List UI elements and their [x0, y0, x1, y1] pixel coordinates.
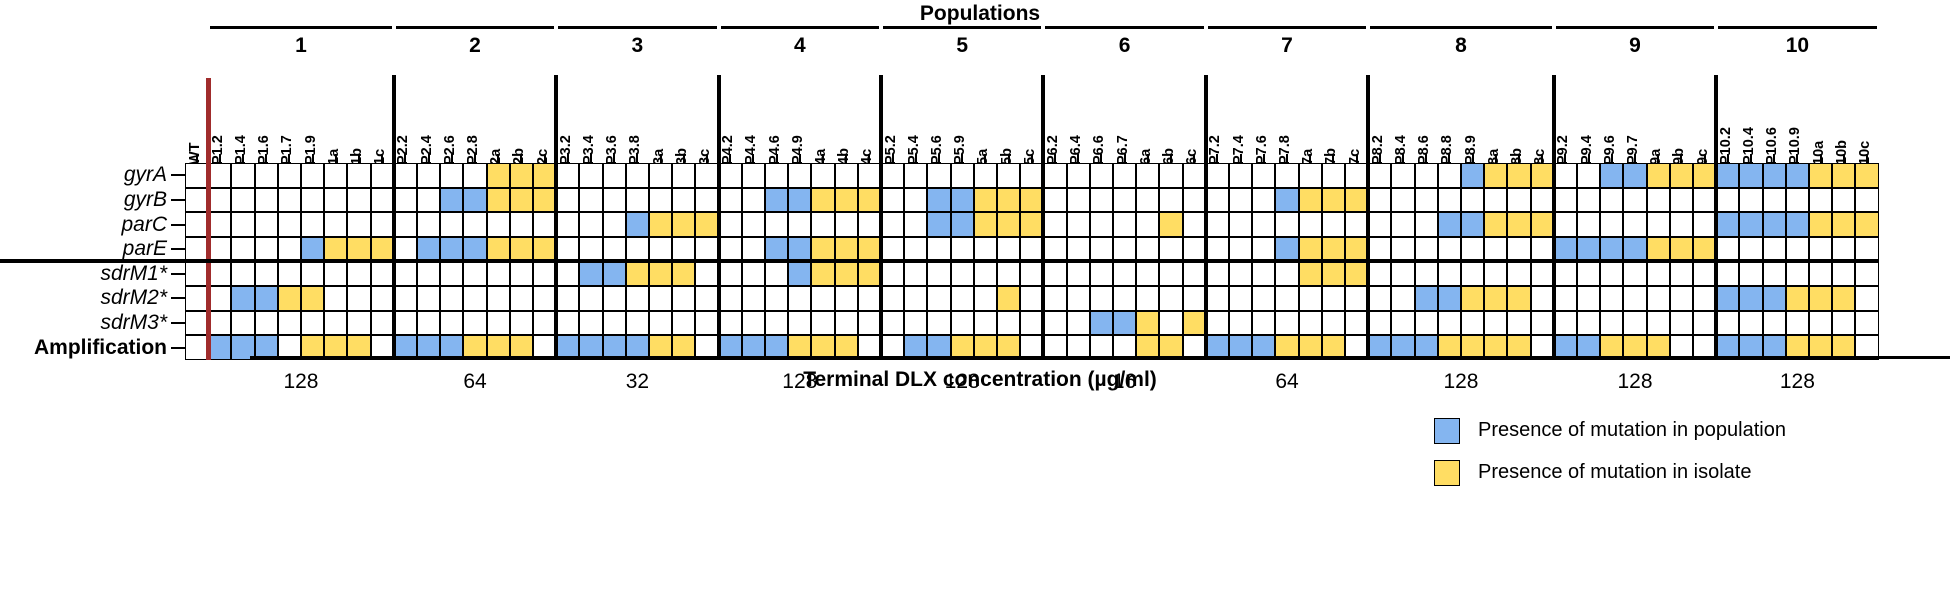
column-tick	[451, 154, 453, 163]
heatmap-cell	[394, 261, 417, 286]
heatmap-cell	[1461, 261, 1484, 286]
heatmap-cell	[672, 163, 695, 188]
heatmap-cell	[1043, 311, 1066, 336]
heatmap-cell	[1229, 212, 1252, 237]
heatmap-cell	[1507, 261, 1530, 286]
heatmap-cell	[1067, 212, 1090, 237]
gene-group-divider	[0, 259, 1879, 263]
heatmap-cell	[1299, 311, 1322, 336]
heatmap-cell	[394, 237, 417, 262]
heatmap-cell	[997, 237, 1020, 262]
heatmap-cell	[904, 311, 927, 336]
heatmap-cell	[1113, 212, 1136, 237]
heatmap-cell	[974, 261, 997, 286]
heatmap-cell	[1507, 188, 1530, 213]
heatmap-cell	[1159, 286, 1182, 311]
heatmap-cell	[1647, 311, 1670, 336]
heatmap-cell	[1043, 163, 1066, 188]
heatmap-cell	[951, 237, 974, 262]
heatmap-cell	[927, 237, 950, 262]
heatmap-cell	[927, 261, 950, 286]
heatmap-cell	[765, 311, 788, 336]
heatmap-cell	[440, 163, 463, 188]
heatmap-cell	[1786, 237, 1809, 262]
heatmap-cell	[1229, 188, 1252, 213]
heatmap-cell	[672, 286, 695, 311]
heatmap-cell	[858, 237, 881, 262]
heatmap-cell	[1183, 163, 1206, 188]
heatmap-cell	[997, 286, 1020, 311]
population-rule-7	[1208, 26, 1366, 29]
bottom-axis-rule	[250, 356, 1950, 359]
heatmap-cell	[1345, 212, 1368, 237]
column-tick	[776, 154, 778, 163]
heatmap-cell	[208, 261, 231, 286]
heatmap-cell	[510, 212, 533, 237]
heatmap-cell	[487, 286, 510, 311]
heatmap-cell	[347, 261, 370, 286]
heatmap-cell	[1090, 286, 1113, 311]
heatmap-cell	[1299, 212, 1322, 237]
heatmap-cell	[1623, 311, 1646, 336]
heatmap-cell	[695, 286, 718, 311]
heatmap-cell	[1739, 163, 1762, 188]
heatmap-cell	[811, 286, 834, 311]
heatmap-cell	[1809, 261, 1832, 286]
heatmap-cell	[510, 188, 533, 213]
heatmap-cell	[1159, 237, 1182, 262]
heatmap-cell	[1739, 188, 1762, 213]
heatmap-cell	[1206, 237, 1229, 262]
column-label-P3-4: P3.4	[581, 135, 597, 165]
heatmap-cell	[835, 237, 858, 262]
heatmap-cell	[1832, 188, 1855, 213]
heatmap-cell	[394, 163, 417, 188]
heatmap-cell	[811, 237, 834, 262]
legend-swatch-population	[1434, 418, 1460, 444]
heatmap-cell	[1252, 311, 1275, 336]
heatmap-cell	[1345, 188, 1368, 213]
heatmap-cell	[1020, 188, 1043, 213]
heatmap-cell	[463, 212, 486, 237]
heatmap-cell	[927, 163, 950, 188]
heatmap-cell	[1647, 212, 1670, 237]
heatmap-cell	[255, 261, 278, 286]
population-number-3: 3	[556, 34, 718, 58]
column-label-P9-2: P9.2	[1555, 135, 1571, 165]
heatmap-cell	[1322, 188, 1345, 213]
heatmap-cell	[1809, 212, 1832, 237]
heatmap-cell	[208, 311, 231, 336]
population-rule-4	[721, 26, 879, 29]
heatmap-cell	[904, 188, 927, 213]
heatmap-cell	[1299, 237, 1322, 262]
column-tick	[567, 154, 569, 163]
column-tick	[1448, 154, 1450, 163]
column-tick	[636, 154, 638, 163]
heatmap-cell	[510, 163, 533, 188]
heatmap-cell	[1531, 212, 1554, 237]
heatmap-cell	[417, 237, 440, 262]
heatmap-cell	[835, 311, 858, 336]
heatmap-cell	[533, 163, 556, 188]
heatmap-cell	[1484, 286, 1507, 311]
heatmap-cell	[1786, 188, 1809, 213]
column-label-P8-2: P8.2	[1370, 135, 1386, 165]
population-number-5: 5	[881, 34, 1043, 58]
heatmap-cell	[927, 188, 950, 213]
column-tick	[219, 154, 221, 163]
heatmap-cell	[1763, 311, 1786, 336]
heatmap-cell	[1855, 286, 1878, 311]
heatmap-cell	[719, 163, 742, 188]
heatmap-cell	[904, 163, 927, 188]
column-label-P1-6: P1.6	[256, 135, 272, 165]
column-tick	[1054, 154, 1056, 163]
heatmap-cell	[603, 311, 626, 336]
heatmap-cell	[1252, 188, 1275, 213]
column-tick	[265, 154, 267, 163]
heatmap-cell	[1855, 261, 1878, 286]
heatmap-cell	[347, 311, 370, 336]
heatmap-cell	[1577, 237, 1600, 262]
heatmap-cell	[904, 286, 927, 311]
heatmap-cell	[1438, 261, 1461, 286]
heatmap-cell	[1531, 311, 1554, 336]
heatmap-cell	[417, 311, 440, 336]
heatmap-cell	[417, 212, 440, 237]
heatmap-cell	[463, 261, 486, 286]
population-rule-1	[210, 26, 392, 29]
heatmap-cell	[1623, 163, 1646, 188]
heatmap-cell	[1229, 261, 1252, 286]
heatmap-cell	[1368, 286, 1391, 311]
column-tick	[1796, 154, 1798, 163]
column-tick	[428, 154, 430, 163]
heatmap-cell	[487, 261, 510, 286]
heatmap-cell	[533, 286, 556, 311]
heatmap-cell	[1136, 188, 1159, 213]
population-divider-3	[554, 75, 558, 360]
heatmap-cell	[1623, 188, 1646, 213]
heatmap-cell	[1763, 163, 1786, 188]
heatmap-cell	[208, 335, 231, 360]
heatmap-cell	[1531, 188, 1554, 213]
population-number-4: 4	[719, 34, 881, 58]
heatmap-cell	[765, 261, 788, 286]
heatmap-cell	[1786, 163, 1809, 188]
heatmap-cell	[1647, 261, 1670, 286]
heatmap-cell	[510, 261, 533, 286]
heatmap-cell	[371, 163, 394, 188]
heatmap-cell	[997, 188, 1020, 213]
heatmap-cell	[1647, 237, 1670, 262]
heatmap-cell	[347, 212, 370, 237]
heatmap-cell	[1275, 286, 1298, 311]
heatmap-cell	[788, 311, 811, 336]
column-label-P10-9: P10.9	[1787, 127, 1803, 165]
heatmap-cell	[324, 237, 347, 262]
column-label-P2-8: P2.8	[465, 135, 481, 165]
heatmap-cell	[881, 188, 904, 213]
heatmap-cell	[1670, 261, 1693, 286]
heatmap-cell	[1391, 261, 1414, 286]
heatmap-cell	[904, 237, 927, 262]
heatmap-cell	[835, 188, 858, 213]
column-label-10b: 10b	[1834, 140, 1850, 165]
heatmap-cell	[904, 212, 927, 237]
heatmap-cell	[371, 286, 394, 311]
heatmap-cell	[347, 237, 370, 262]
heatmap-cell	[1067, 261, 1090, 286]
heatmap-cell	[371, 311, 394, 336]
heatmap-cell	[579, 286, 602, 311]
heatmap-cell	[1531, 286, 1554, 311]
heatmap-cell	[1716, 163, 1739, 188]
heatmap-cell	[649, 286, 672, 311]
heatmap-cell	[788, 237, 811, 262]
heatmap-cell	[858, 286, 881, 311]
column-tick	[1588, 154, 1590, 163]
column-label-P7-8: P7.8	[1277, 135, 1293, 165]
heatmap-cell	[1809, 311, 1832, 336]
heatmap-cell	[1763, 188, 1786, 213]
column-tick	[729, 154, 731, 163]
heatmap-cell	[1670, 212, 1693, 237]
column-tick	[1286, 154, 1288, 163]
column-label-P7-6: P7.6	[1254, 135, 1270, 165]
heatmap-cell	[1461, 311, 1484, 336]
heatmap-cell	[742, 237, 765, 262]
column-tick	[1008, 154, 1010, 163]
column-tick	[1495, 154, 1497, 163]
heatmap-cell	[440, 212, 463, 237]
heatmap-cell	[208, 237, 231, 262]
heatmap-cell	[927, 212, 950, 237]
heatmap-cell	[1670, 286, 1693, 311]
heatmap-cell	[742, 311, 765, 336]
heatmap-cell	[881, 286, 904, 311]
heatmap-cell	[1206, 188, 1229, 213]
column-tick	[915, 154, 917, 163]
column-tick	[335, 154, 337, 163]
heatmap-cell	[951, 212, 974, 237]
column-tick	[288, 154, 290, 163]
row-tick	[171, 297, 185, 299]
heatmap-cell	[347, 163, 370, 188]
heatmap-cell	[951, 261, 974, 286]
column-tick	[1680, 154, 1682, 163]
heatmap-cell	[1600, 163, 1623, 188]
heatmap-cell	[1043, 237, 1066, 262]
heatmap-cell	[1391, 311, 1414, 336]
heatmap-cell	[881, 311, 904, 336]
heatmap-cell	[719, 286, 742, 311]
heatmap-cell	[1763, 212, 1786, 237]
heatmap-cell	[1600, 286, 1623, 311]
row-label-gyra: gyrA	[0, 163, 167, 187]
column-label-10a: 10a	[1811, 141, 1827, 165]
heatmap-cell	[1670, 188, 1693, 213]
column-tick	[984, 154, 986, 163]
column-label-P8-4: P8.4	[1393, 135, 1409, 165]
heatmap-cell	[1763, 237, 1786, 262]
heatmap-cell	[603, 286, 626, 311]
heatmap-cell	[231, 237, 254, 262]
heatmap-cell	[1322, 237, 1345, 262]
heatmap-cell	[672, 261, 695, 286]
heatmap-cell	[1345, 311, 1368, 336]
population-rule-3	[558, 26, 716, 29]
heatmap-cell	[1693, 212, 1716, 237]
column-label-P5-6: P5.6	[929, 135, 945, 165]
heatmap-cell	[1090, 163, 1113, 188]
column-tick	[196, 154, 198, 163]
heatmap-cell	[255, 188, 278, 213]
mutation-heatmap-figure: Populations 12345678910 WTP1.2P1.4P1.6P1…	[0, 0, 1960, 597]
heatmap-cell	[1832, 212, 1855, 237]
column-tick	[381, 154, 383, 163]
heatmap-cell	[1159, 163, 1182, 188]
column-tick	[706, 154, 708, 163]
heatmap-cell	[208, 286, 231, 311]
heatmap-cell	[811, 311, 834, 336]
heatmap-cell	[1368, 237, 1391, 262]
column-tick	[799, 154, 801, 163]
heatmap-cell	[1670, 311, 1693, 336]
heatmap-cell	[974, 188, 997, 213]
row-label-sdrm2: sdrM2*	[0, 286, 167, 310]
column-label-P8-8: P8.8	[1439, 135, 1455, 165]
heatmap-cell	[1786, 286, 1809, 311]
heatmap-cell	[1136, 311, 1159, 336]
heatmap-cell	[1855, 311, 1878, 336]
column-label-P9-6: P9.6	[1602, 135, 1618, 165]
heatmap-cell	[788, 212, 811, 237]
column-tick	[822, 154, 824, 163]
heatmap-cell	[556, 286, 579, 311]
heatmap-cell	[1739, 237, 1762, 262]
heatmap-cell	[1090, 261, 1113, 286]
legend-label-population: Presence of mutation in population	[1478, 419, 1786, 442]
column-label-P1-9: P1.9	[303, 135, 319, 165]
column-tick	[1634, 154, 1636, 163]
column-label-P4-9: P4.9	[790, 135, 806, 165]
column-tick	[544, 154, 546, 163]
column-label-P6-2: P6.2	[1045, 135, 1061, 165]
heatmap-cell	[579, 261, 602, 286]
heatmap-cell	[278, 163, 301, 188]
heatmap-cell	[417, 286, 440, 311]
column-tick	[1773, 154, 1775, 163]
heatmap-cell	[1461, 163, 1484, 188]
heatmap-cell	[695, 237, 718, 262]
population-rule-10	[1718, 26, 1876, 29]
column-label-P3-8: P3.8	[627, 135, 643, 165]
heatmap-cell	[1693, 286, 1716, 311]
heatmap-cell	[1113, 261, 1136, 286]
heatmap-cell	[1507, 237, 1530, 262]
heatmap-cell	[649, 261, 672, 286]
heatmap-cell	[417, 261, 440, 286]
heatmap-cell	[1507, 163, 1530, 188]
heatmap-cell	[417, 188, 440, 213]
heatmap-cell	[1786, 311, 1809, 336]
heatmap-cell	[1670, 237, 1693, 262]
heatmap-cell	[1554, 163, 1577, 188]
heatmap-cell	[1368, 212, 1391, 237]
heatmap-cell	[1763, 261, 1786, 286]
heatmap-cell	[1531, 237, 1554, 262]
heatmap-cell	[255, 237, 278, 262]
heatmap-cell	[1322, 212, 1345, 237]
heatmap-cell	[811, 163, 834, 188]
heatmap-cell	[742, 261, 765, 286]
heatmap-cell	[603, 188, 626, 213]
heatmap-cell	[394, 212, 417, 237]
heatmap-cell	[231, 188, 254, 213]
heatmap-cell	[835, 286, 858, 311]
column-tick	[1704, 154, 1706, 163]
heatmap-cell	[1438, 163, 1461, 188]
row-tick	[171, 347, 185, 349]
heatmap-cell	[1322, 261, 1345, 286]
heatmap-cell	[1020, 163, 1043, 188]
heatmap-cell	[1693, 261, 1716, 286]
column-tick	[1031, 154, 1033, 163]
heatmap-cell	[1577, 212, 1600, 237]
heatmap-cell	[881, 212, 904, 237]
heatmap-cell	[742, 163, 765, 188]
column-tick	[1750, 154, 1752, 163]
heatmap-cell	[951, 188, 974, 213]
row-label-pare: parE	[0, 237, 167, 261]
heatmap-cell	[649, 212, 672, 237]
heatmap-cell	[463, 286, 486, 311]
heatmap-cell	[603, 163, 626, 188]
heatmap-cell	[533, 237, 556, 262]
heatmap-cell	[1577, 261, 1600, 286]
row-tick	[171, 248, 185, 250]
column-label-P6-4: P6.4	[1068, 135, 1084, 165]
heatmap-cell	[231, 311, 254, 336]
heatmap-cell	[579, 237, 602, 262]
column-tick	[1472, 154, 1474, 163]
heatmap-cell	[1415, 237, 1438, 262]
column-tick	[1100, 154, 1102, 163]
heatmap-cell	[1183, 212, 1206, 237]
heatmap-cell	[1391, 188, 1414, 213]
heatmap-cell	[1229, 286, 1252, 311]
column-tick	[1866, 154, 1868, 163]
heatmap-cell	[997, 163, 1020, 188]
heatmap-cell	[649, 311, 672, 336]
heatmap-cell	[1855, 188, 1878, 213]
heatmap-cell	[672, 237, 695, 262]
population-rule-8	[1370, 26, 1552, 29]
column-label-P7-4: P7.4	[1231, 135, 1247, 165]
heatmap-cell	[997, 311, 1020, 336]
heatmap-cell	[255, 212, 278, 237]
heatmap-cell	[1577, 311, 1600, 336]
heatmap-cell	[255, 286, 278, 311]
heatmap-cell	[463, 311, 486, 336]
column-tick	[1402, 154, 1404, 163]
column-tick	[752, 154, 754, 163]
heatmap-cell	[324, 261, 347, 286]
heatmap-cell	[1716, 286, 1739, 311]
column-label-WT: WT	[187, 142, 203, 165]
